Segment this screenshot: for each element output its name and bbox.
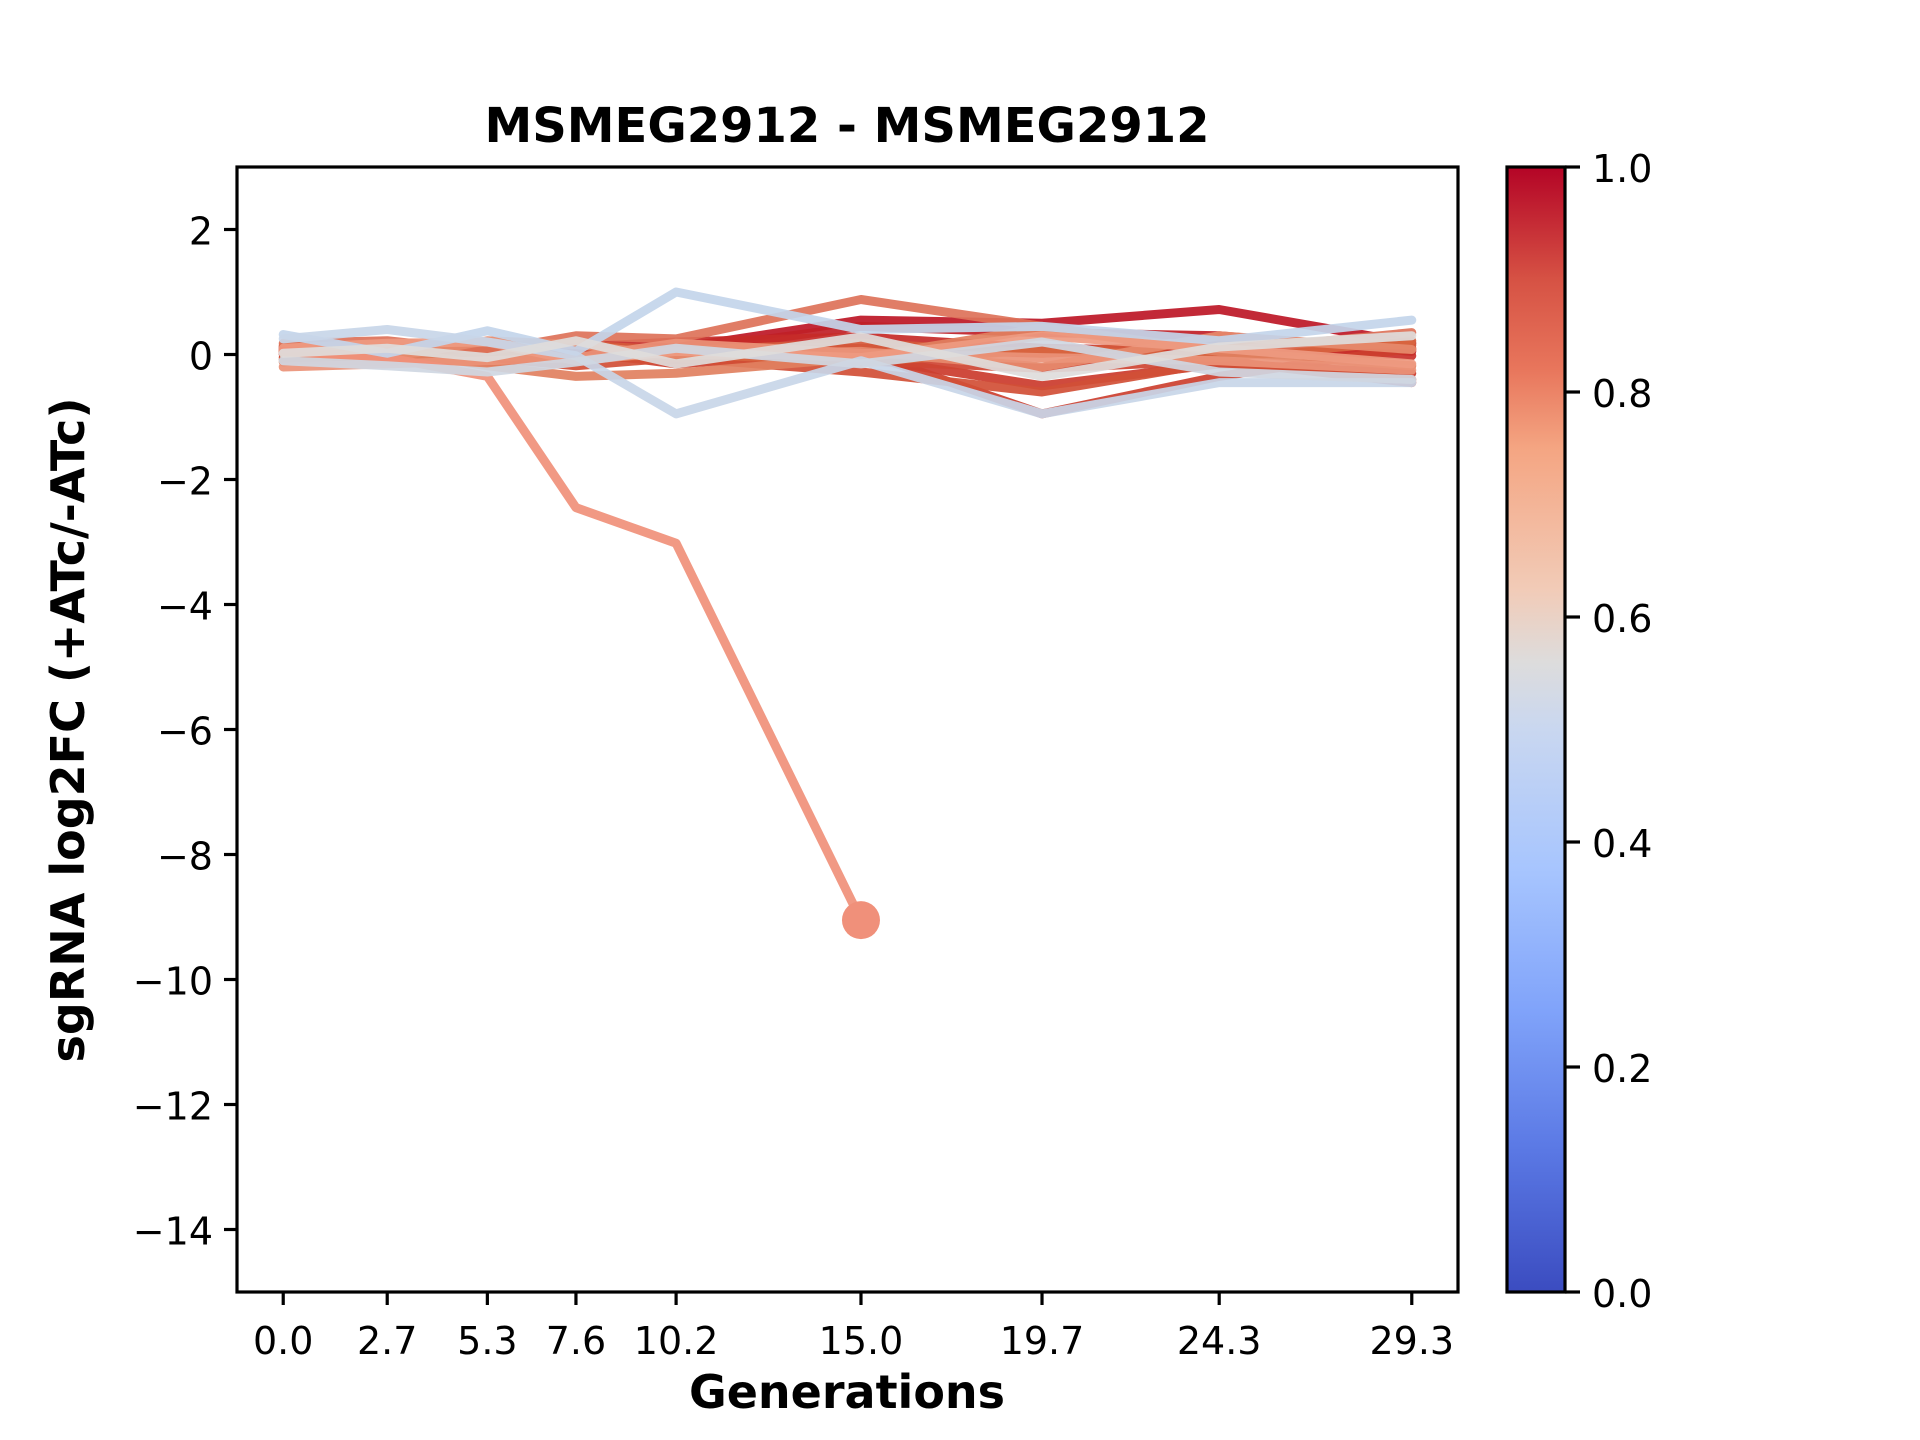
colorbar-tick-label: 0.6: [1592, 597, 1652, 641]
y-tick-label: −2: [157, 460, 213, 504]
chart-title: MSMEG2912 - MSMEG2912: [484, 98, 1209, 154]
colorbar-ticks: 1.00.80.60.40.20.0: [1565, 147, 1652, 1316]
y-tick-label: −10: [133, 960, 213, 1004]
colorbar-tick-label: 0.8: [1592, 372, 1652, 416]
colorbar-tick-label: 0.0: [1592, 1272, 1652, 1316]
x-tick-label: 7.6: [546, 1319, 606, 1363]
y-tick-label: −12: [133, 1085, 213, 1129]
series-endpoint-marker: [842, 901, 880, 939]
x-axis-label: Generations: [689, 1365, 1005, 1419]
colorbar-tick-label: 0.2: [1592, 1047, 1652, 1091]
y-tick-label: −6: [157, 710, 213, 754]
y-axis-ticks: 20−2−4−6−8−10−12−14: [133, 210, 237, 1254]
x-tick-label: 5.3: [457, 1319, 517, 1363]
y-tick-label: 0: [189, 335, 213, 379]
figure-canvas: MSMEG2912 - MSMEG2912 0.02.75.37.610.215…: [0, 0, 1920, 1440]
x-tick-label: 29.3: [1369, 1319, 1454, 1363]
colorbar-tick-label: 0.4: [1592, 822, 1652, 866]
x-axis-ticks: 0.02.75.37.610.215.019.724.329.3: [253, 1292, 1454, 1363]
y-tick-label: −14: [133, 1210, 213, 1254]
y-axis-label: sgRNA log2FC (+ATc/-ATc): [41, 398, 95, 1063]
line-chart: MSMEG2912 - MSMEG2912 0.02.75.37.610.215…: [0, 0, 1920, 1440]
x-tick-label: 19.7: [1000, 1319, 1085, 1363]
x-tick-label: 15.0: [819, 1319, 904, 1363]
colorbar-tick-label: 1.0: [1592, 147, 1652, 191]
series-endpoint-markers-layer: [842, 901, 880, 939]
y-tick-label: 2: [189, 210, 213, 254]
x-tick-label: 0.0: [253, 1319, 313, 1363]
x-tick-label: 24.3: [1177, 1319, 1262, 1363]
colorbar: [1507, 167, 1565, 1292]
x-tick-label: 10.2: [634, 1319, 719, 1363]
x-tick-label: 2.7: [357, 1319, 417, 1363]
y-tick-label: −4: [157, 585, 213, 629]
y-tick-label: −8: [157, 835, 213, 879]
